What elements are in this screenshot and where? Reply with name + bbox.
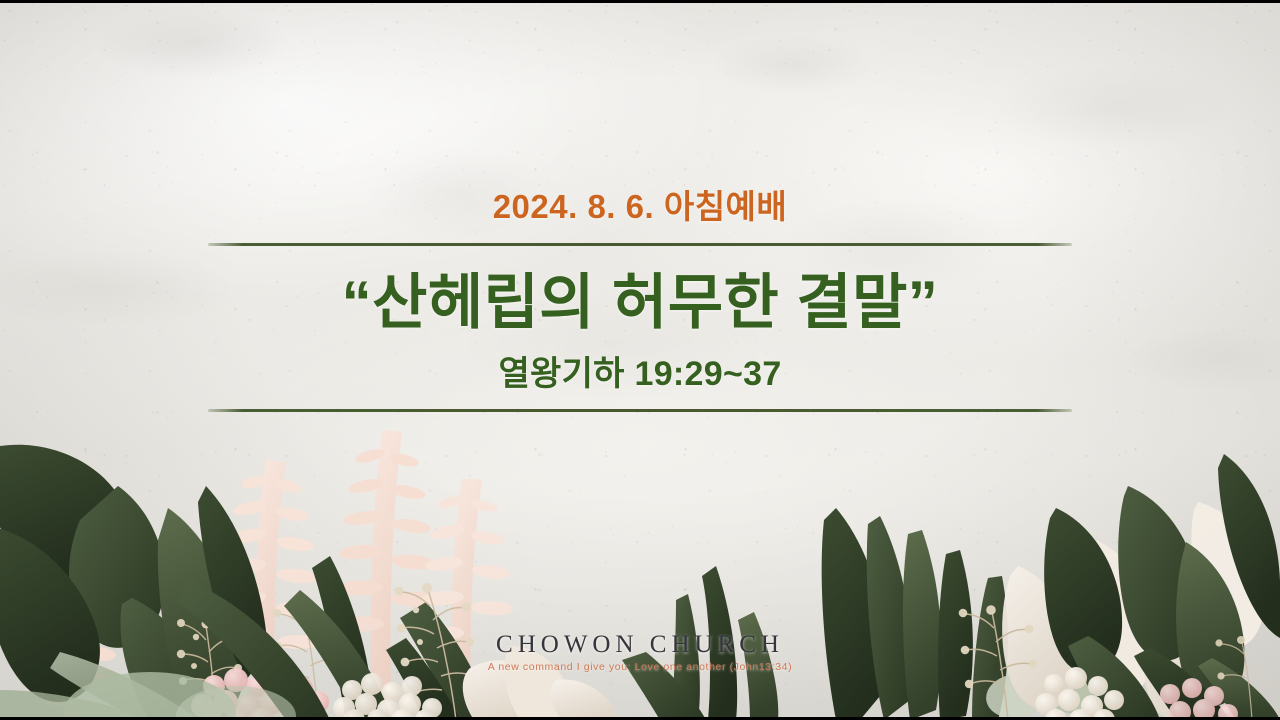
service-date: 2024. 8. 6. 아침예배 (0, 188, 1280, 227)
divider-bottom (208, 409, 1072, 412)
sermon-title-slide: 2024. 8. 6. 아침예배 “산헤립의 허무한 결말” 열왕기하 19:2… (0, 0, 1280, 720)
divider-top (208, 243, 1072, 246)
sermon-text-block: 2024. 8. 6. 아침예배 “산헤립의 허무한 결말” 열왕기하 19:2… (0, 188, 1280, 412)
church-name: CHOWON CHURCH (0, 632, 1280, 657)
church-logo: CHOWON CHURCH A new command I give you: … (0, 632, 1280, 673)
scripture-reference: 열왕기하 19:29~37 (0, 354, 1280, 395)
church-tagline: A new command I give you: Love one anoth… (0, 662, 1280, 673)
letterbox-top-edge (0, 0, 1280, 3)
sermon-title: “산헤립의 허무한 결말” (0, 269, 1280, 336)
